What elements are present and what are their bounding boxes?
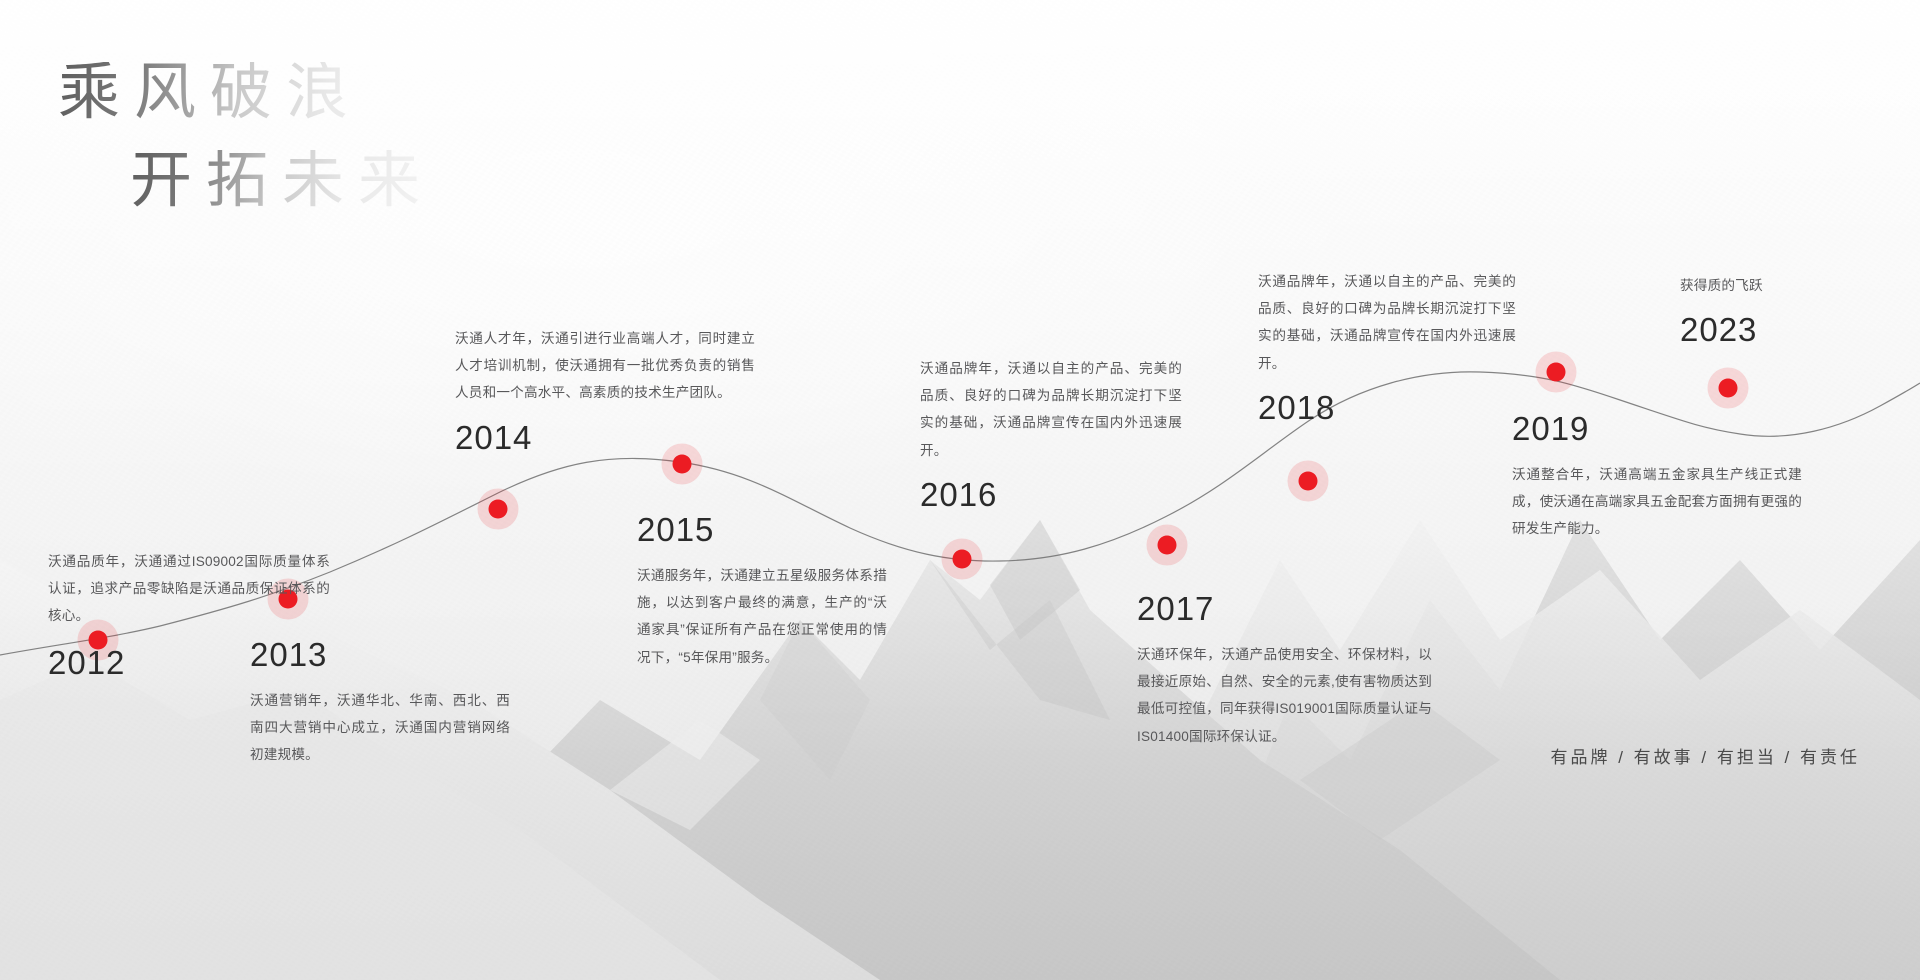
- milestone-entry-2018[interactable]: 沃通品牌年，沃通以自主的产品、完美的品质、良好的口碑为品牌长期沉淀打下坚实的基础…: [1258, 268, 1516, 424]
- page-title: 乘风破浪 开拓未来: [58, 62, 434, 212]
- milestone-dot-2014[interactable]: [489, 500, 508, 519]
- milestone-dot-2023[interactable]: [1719, 379, 1738, 398]
- milestone-desc-2018: 沃通品牌年，沃通以自主的产品、完美的品质、良好的口碑为品牌长期沉淀打下坚实的基础…: [1258, 268, 1516, 377]
- slide-canvas: 乘风破浪 开拓未来 沃通品质年，沃通通过IS09002国际质量体系认证，追求产品…: [0, 0, 1920, 980]
- milestone-desc-2015: 沃通服务年，沃通建立五星级服务体系措施，以达到客户最终的满意，生产的“沃通家具”…: [637, 562, 887, 671]
- milestone-year-2015: 2015: [637, 513, 887, 546]
- milestone-dot-2018[interactable]: [1299, 472, 1318, 491]
- milestone-year-2019: 2019: [1512, 412, 1802, 445]
- milestone-year-2023: 2023: [1680, 313, 1890, 346]
- title-line-1: 乘风破浪: [58, 62, 434, 124]
- milestone-year-2013: 2013: [250, 638, 510, 671]
- milestone-desc-2019: 沃通整合年，沃通高端五金家具生产线正式建成，使沃通在高端家具五金配套方面拥有更强…: [1512, 461, 1802, 543]
- milestone-desc-2016: 沃通品牌年，沃通以自主的产品、完美的品质、良好的口碑为品牌长期沉淀打下坚实的基础…: [920, 355, 1182, 464]
- milestone-entry-2017[interactable]: 2017 沃通环保年，沃通产品使用安全、环保材料，以最接近原始、自然、安全的元素…: [1137, 592, 1432, 750]
- milestone-desc-2012: 沃通品质年，沃通通过IS09002国际质量体系认证，追求产品零缺陷是沃通品质保证…: [48, 548, 330, 630]
- milestone-year-2016: 2016: [920, 478, 1182, 511]
- milestone-entry-2019[interactable]: 2019 沃通整合年，沃通高端五金家具生产线正式建成，使沃通在高端家具五金配套方…: [1512, 412, 1802, 543]
- milestone-dot-2019[interactable]: [1547, 363, 1566, 382]
- milestone-entry-2015[interactable]: 2015 沃通服务年，沃通建立五星级服务体系措施，以达到客户最终的满意，生产的“…: [637, 513, 887, 671]
- milestone-year-2017: 2017: [1137, 592, 1432, 625]
- milestone-entry-2013[interactable]: 2013 沃通营销年，沃通华北、华南、西北、西南四大营销中心成立，沃通国内营销网…: [250, 638, 510, 769]
- milestone-entry-2016[interactable]: 沃通品牌年，沃通以自主的产品、完美的品质、良好的口碑为品牌长期沉淀打下坚实的基础…: [920, 355, 1182, 511]
- title-line-2: 开拓未来: [130, 150, 434, 212]
- milestone-desc-2017: 沃通环保年，沃通产品使用安全、环保材料，以最接近原始、自然、安全的元素,使有害物…: [1137, 641, 1432, 750]
- milestone-entry-2014[interactable]: 沃通人才年，沃通引进行业高端人才，同时建立人才培训机制，使沃通拥有一批优秀负责的…: [455, 325, 755, 454]
- milestone-desc-2013: 沃通营销年，沃通华北、华南、西北、西南四大营销中心成立，沃通国内营销网络初建规模…: [250, 687, 510, 769]
- milestone-year-2014: 2014: [455, 421, 755, 454]
- milestone-dot-2017[interactable]: [1158, 536, 1177, 555]
- milestone-desc-2014: 沃通人才年，沃通引进行业高端人才，同时建立人才培训机制，使沃通拥有一批优秀负责的…: [455, 325, 755, 407]
- milestone-entry-2023[interactable]: 获得质的飞跃 2023: [1680, 272, 1890, 346]
- milestone-dot-2015[interactable]: [673, 455, 692, 474]
- milestone-year-2018: 2018: [1258, 391, 1516, 424]
- footer-tagline: 有品牌 / 有故事 / 有担当 / 有责任: [1550, 743, 1860, 768]
- milestone-dot-2016[interactable]: [953, 550, 972, 569]
- milestone-desc-2023: 获得质的飞跃: [1680, 272, 1890, 299]
